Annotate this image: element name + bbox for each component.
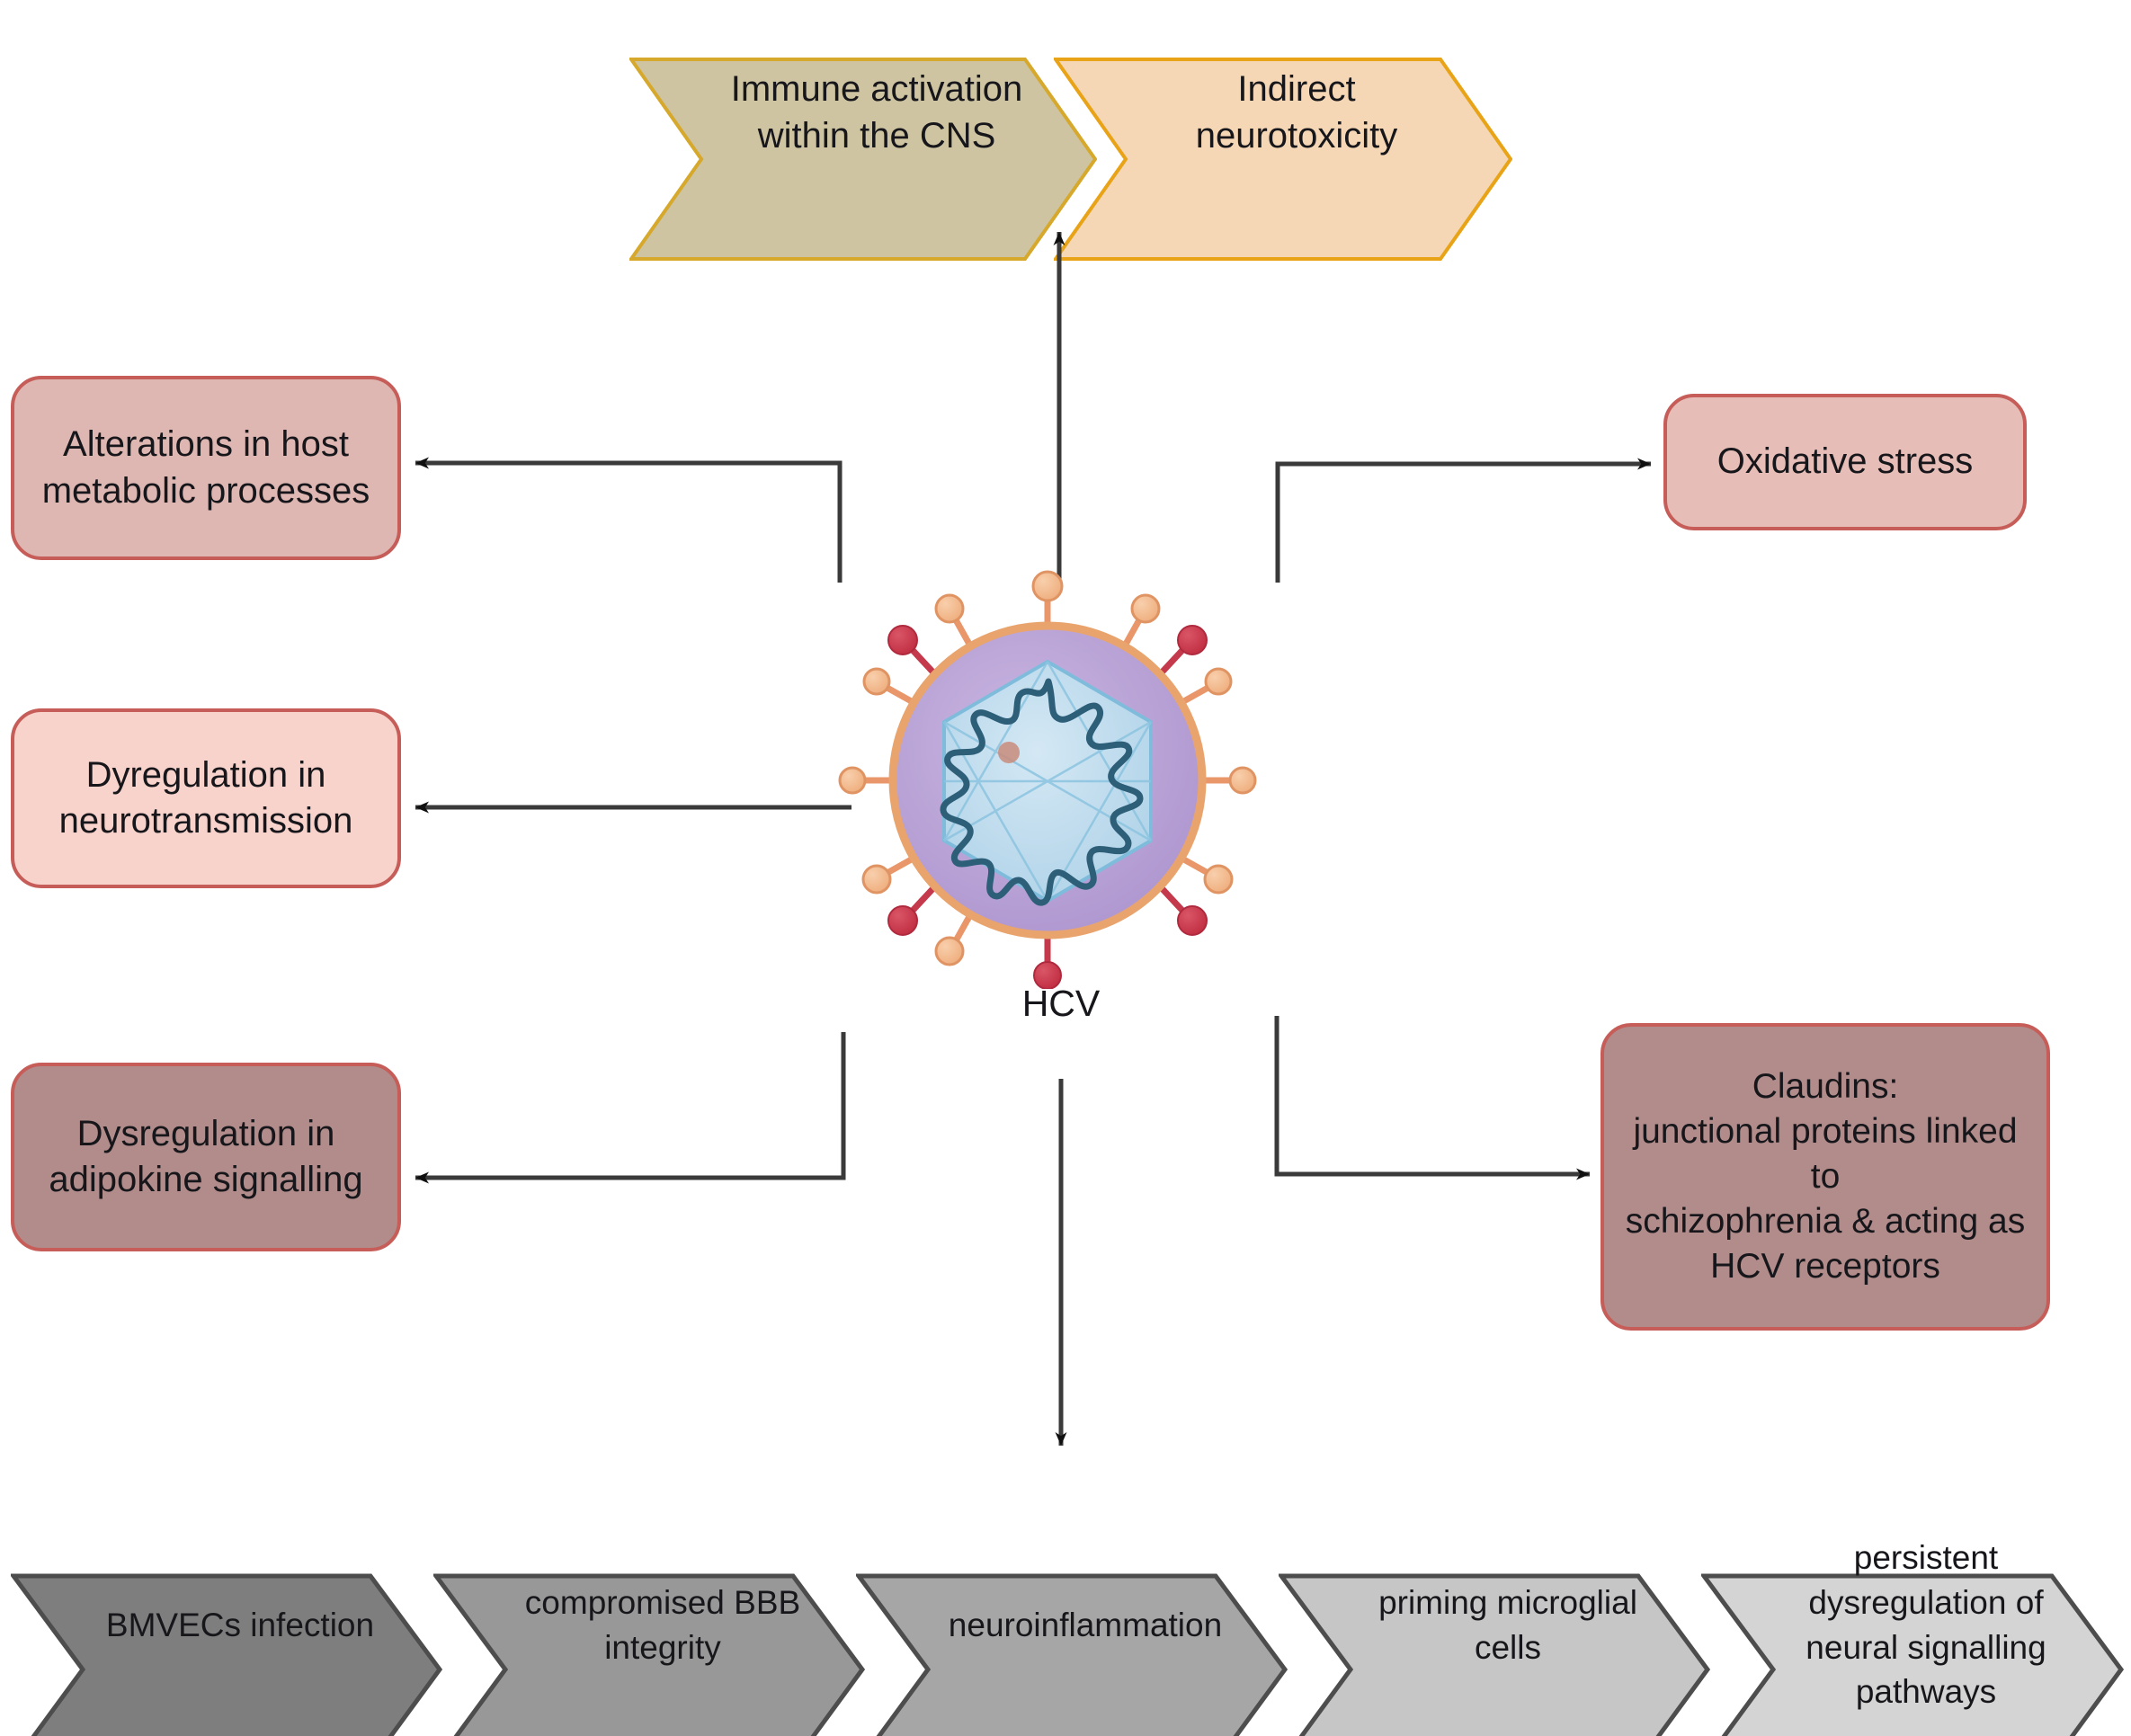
chevron-immune-activation: Immune activation within the CNS [629,9,1097,216]
box-oxidative-stress-label: Oxidative stress [1717,439,1974,485]
arrow-hcv-to-oxidative-stress [1278,464,1651,583]
box-dyregulation-neurotransmission: Dyregulation in neurotransmission [11,708,401,888]
hcv-label: HCV [967,983,1155,1025]
box-alterations-host-metabolic-processes: Alterations in host metabolic processes [11,376,401,560]
box-dysregulation-adipokine-signalling-label: Dysregulation in adipokine signalling [49,1111,362,1203]
box-dyregulation-neurotransmission-label: Dyregulation in neurotransmission [59,752,353,844]
box-claudins-label: Claudins: junctional proteins linked to … [1620,1064,2030,1289]
chevron-persistent-dysregulation-label: persistent dysregulation of neural signa… [1806,1536,2046,1714]
chevron-bmvecs-infection-label: BMVECs infection [106,1603,374,1648]
chevron-bmvecs-infection: BMVECs infection [11,1528,442,1722]
chevron-indirect-neurotoxicity-label: Indirect neurotoxicity [1196,66,1398,159]
chevron-immune-activation-label: Immune activation within the CNS [731,66,1023,159]
arrow-hcv-to-adipokine [415,1032,843,1178]
chevron-persistent-dysregulation: persistent dysregulation of neural signa… [1701,1528,2124,1722]
virus-particle-icon [836,566,1259,989]
chevron-priming-microglial-cells: priming microglial cells [1279,1528,1710,1722]
box-claudins: Claudins: junctional proteins linked to … [1600,1023,2050,1331]
chevron-priming-microglial-cells-label: priming microglial cells [1378,1580,1637,1669]
arrow-hcv-to-claudins [1277,1016,1590,1174]
diagram-canvas: Immune activation within the CNS Indirec… [0,0,2131,1736]
arrow-hcv-to-host-metabolic [415,463,840,583]
chevron-compromised-bbb-integrity-label: compromised BBB integrity [525,1580,800,1669]
chevron-indirect-neurotoxicity: Indirect neurotoxicity [1054,9,1512,216]
virus-core-dot [998,742,1020,763]
chevron-compromised-bbb-integrity: compromised BBB integrity [433,1528,865,1722]
chevron-neuroinflammation: neuroinflammation [856,1528,1288,1722]
box-oxidative-stress: Oxidative stress [1663,394,2027,530]
chevron-neuroinflammation-label: neuroinflammation [949,1603,1222,1648]
box-alterations-host-metabolic-processes-label: Alterations in host metabolic processes [42,422,370,513]
box-dysregulation-adipokine-signalling: Dysregulation in adipokine signalling [11,1063,401,1251]
